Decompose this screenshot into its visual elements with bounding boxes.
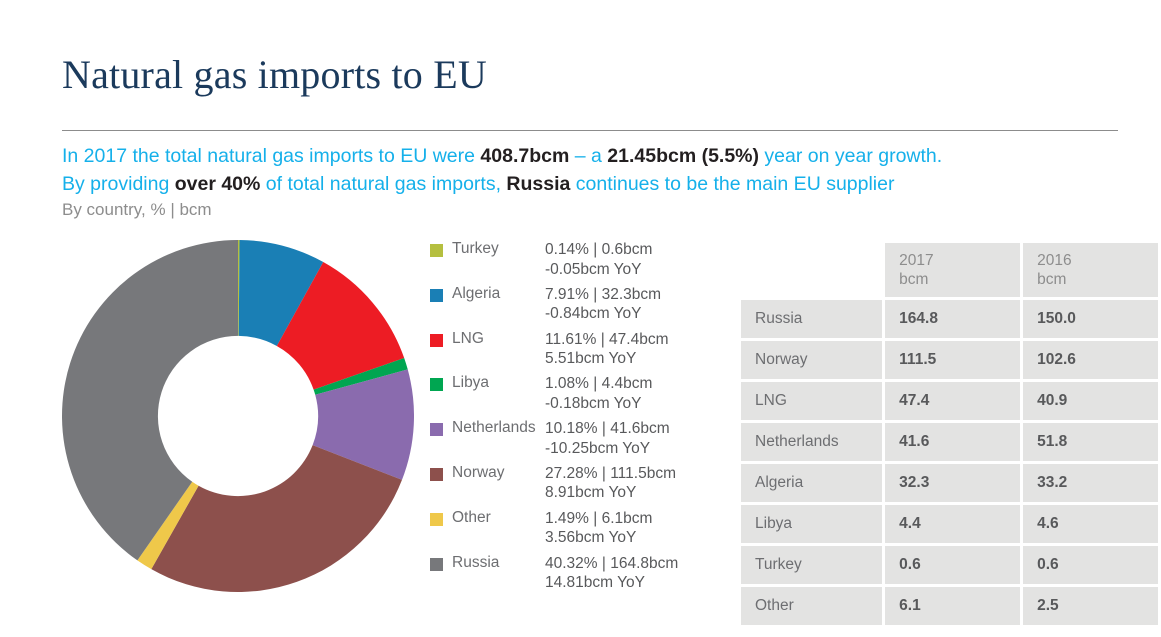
table-cell-country: LNG (741, 382, 882, 420)
table-cell-country: Libya (741, 505, 882, 543)
legend-value-yoy: -0.84bcm YoY (545, 304, 661, 324)
table-cell-country: Other (741, 587, 882, 625)
legend-swatch-lng (430, 334, 443, 347)
subtitle-text: – a (569, 145, 607, 167)
legend-swatch-libya (430, 378, 443, 391)
legend-value-yoy: 14.81bcm YoY (545, 573, 678, 593)
donut-chart-svg (62, 240, 414, 592)
legend-item[interactable]: Algeria7.91% | 32.3bcm-0.84bcm YoY (430, 285, 730, 330)
subtitle-emphasis-total: 408.7bcm (480, 145, 569, 167)
legend-value-share: 0.14% | 0.6bcm (545, 241, 652, 258)
legend-values: 27.28% | 111.5bcm8.91bcm YoY (545, 464, 676, 503)
table-cell-2016: 2.5 (1023, 587, 1158, 625)
subtitle: In 2017 the total natural gas imports to… (62, 143, 1122, 198)
legend-values: 40.32% | 164.8bcm14.81bcm YoY (545, 554, 678, 593)
subtitle-text: of total natural gas imports, (260, 173, 506, 195)
table-cell-2016: 102.6 (1023, 341, 1158, 379)
legend-item[interactable]: Norway27.28% | 111.5bcm8.91bcm YoY (430, 464, 730, 509)
legend-label: Turkey (452, 240, 499, 258)
table-row[interactable]: Netherlands41.651.8 (741, 423, 1158, 461)
legend-value-yoy: -10.25bcm YoY (545, 439, 670, 459)
subtitle-emphasis-share: over 40% (175, 173, 261, 195)
table-row[interactable]: Turkey0.60.6 (741, 546, 1158, 584)
table-cell-2016: 33.2 (1023, 464, 1158, 502)
legend-swatch-russia (430, 558, 443, 571)
legend-value-yoy: 5.51bcm YoY (545, 349, 669, 369)
donut-chart (62, 240, 414, 592)
chart-caption: By country, % | bcm (62, 200, 212, 220)
table-cell-2017: 111.5 (885, 341, 1020, 379)
legend-item[interactable]: Russia40.32% | 164.8bcm14.81bcm YoY (430, 554, 730, 599)
legend-values: 11.61% | 47.4bcm5.51bcm YoY (545, 330, 669, 369)
table-row[interactable]: Norway111.5102.6 (741, 341, 1158, 379)
table-cell-country: Russia (741, 300, 882, 338)
table-cell-2017: 0.6 (885, 546, 1020, 584)
table-header-2016-year: 2016 (1037, 251, 1144, 270)
legend-label: Other (452, 509, 491, 527)
table-header-2017: 2017 bcm (885, 243, 1020, 297)
legend-swatch-algeria (430, 289, 443, 302)
table-row[interactable]: Algeria32.333.2 (741, 464, 1158, 502)
legend-values: 10.18% | 41.6bcm-10.25bcm YoY (545, 419, 670, 458)
table-cell-2016: 40.9 (1023, 382, 1158, 420)
legend-item[interactable]: Other1.49% | 6.1bcm3.56bcm YoY (430, 509, 730, 554)
legend-values: 7.91% | 32.3bcm-0.84bcm YoY (545, 285, 661, 324)
legend-value-share: 11.61% | 47.4bcm (545, 331, 669, 348)
table-cell-2017: 6.1 (885, 587, 1020, 625)
subtitle-text: In 2017 the total natural gas imports to… (62, 145, 480, 167)
table-header-2016: 2016 bcm (1023, 243, 1158, 297)
legend-value-share: 1.08% | 4.4bcm (545, 375, 652, 392)
legend-item[interactable]: Libya1.08% | 4.4bcm-0.18bcm YoY (430, 374, 730, 419)
legend-value-share: 7.91% | 32.3bcm (545, 286, 661, 303)
legend-value-yoy: 8.91bcm YoY (545, 483, 676, 503)
legend-label: Algeria (452, 285, 500, 303)
legend-value-share: 40.32% | 164.8bcm (545, 555, 678, 572)
legend-item[interactable]: Turkey0.14% | 0.6bcm-0.05bcm YoY (430, 240, 730, 285)
table-body: Russia164.8150.0Norway111.5102.6LNG47.44… (741, 300, 1158, 625)
table-cell-2017: 47.4 (885, 382, 1020, 420)
table-cell-2016: 150.0 (1023, 300, 1158, 338)
legend-label: Russia (452, 554, 499, 572)
table-cell-2017: 4.4 (885, 505, 1020, 543)
legend-swatch-turkey (430, 244, 443, 257)
legend-swatch-other (430, 513, 443, 526)
table-header-2017-unit: bcm (899, 270, 1006, 289)
table-cell-country: Netherlands (741, 423, 882, 461)
table-header-row: 2017 bcm 2016 bcm (741, 243, 1158, 297)
legend-value-yoy: -0.05bcm YoY (545, 260, 652, 280)
legend-value-share: 27.28% | 111.5bcm (545, 465, 676, 482)
table-cell-2016: 4.6 (1023, 505, 1158, 543)
legend-value-share: 1.49% | 6.1bcm (545, 510, 652, 527)
table-row[interactable]: LNG47.440.9 (741, 382, 1158, 420)
legend-swatch-netherlands (430, 423, 443, 436)
header-divider (62, 130, 1118, 131)
chart-legend: Turkey0.14% | 0.6bcm-0.05bcm YoYAlgeria7… (430, 240, 730, 598)
table-header: 2017 bcm 2016 bcm (741, 243, 1158, 297)
table-row[interactable]: Russia164.8150.0 (741, 300, 1158, 338)
legend-item[interactable]: LNG11.61% | 47.4bcm5.51bcm YoY (430, 330, 730, 375)
table-cell-2016: 51.8 (1023, 423, 1158, 461)
subtitle-line-2: By providing over 40% of total natural g… (62, 171, 1122, 199)
table-header-2016-unit: bcm (1037, 270, 1144, 289)
table-header-2017-year: 2017 (899, 251, 1006, 270)
legend-values: 1.08% | 4.4bcm-0.18bcm YoY (545, 374, 652, 413)
legend-value-yoy: 3.56bcm YoY (545, 528, 652, 548)
imports-table: 2017 bcm 2016 bcm Russia164.8150.0Norway… (738, 240, 1161, 628)
table-cell-2017: 32.3 (885, 464, 1020, 502)
table-corner-cell (741, 243, 882, 297)
legend-label: LNG (452, 330, 484, 348)
subtitle-emphasis-country: Russia (506, 173, 570, 195)
table-cell-country: Turkey (741, 546, 882, 584)
table-cell-country: Norway (741, 341, 882, 379)
table-cell-2017: 41.6 (885, 423, 1020, 461)
subtitle-emphasis-growth: 21.45bcm (5.5%) (607, 145, 759, 167)
subtitle-text: year on year growth. (759, 145, 942, 167)
legend-item[interactable]: Netherlands10.18% | 41.6bcm-10.25bcm YoY (430, 419, 730, 464)
legend-value-yoy: -0.18bcm YoY (545, 394, 652, 414)
legend-label: Netherlands (452, 419, 536, 437)
subtitle-text: By providing (62, 173, 175, 195)
table-cell-2017: 164.8 (885, 300, 1020, 338)
table-cell-2016: 0.6 (1023, 546, 1158, 584)
subtitle-line-1: In 2017 the total natural gas imports to… (62, 143, 1122, 171)
donut-segment-norway[interactable] (151, 445, 402, 592)
legend-label: Libya (452, 374, 489, 392)
legend-label: Norway (452, 464, 505, 482)
table-row[interactable]: Libya4.44.6 (741, 505, 1158, 543)
subtitle-text: continues to be the main EU supplier (570, 173, 894, 195)
legend-values: 0.14% | 0.6bcm-0.05bcm YoY (545, 240, 652, 279)
legend-swatch-norway (430, 468, 443, 481)
table-row[interactable]: Other6.12.5 (741, 587, 1158, 625)
table-cell-country: Algeria (741, 464, 882, 502)
legend-value-share: 10.18% | 41.6bcm (545, 420, 670, 437)
page-title: Natural gas imports to EU (62, 51, 487, 98)
legend-values: 1.49% | 6.1bcm3.56bcm YoY (545, 509, 652, 548)
